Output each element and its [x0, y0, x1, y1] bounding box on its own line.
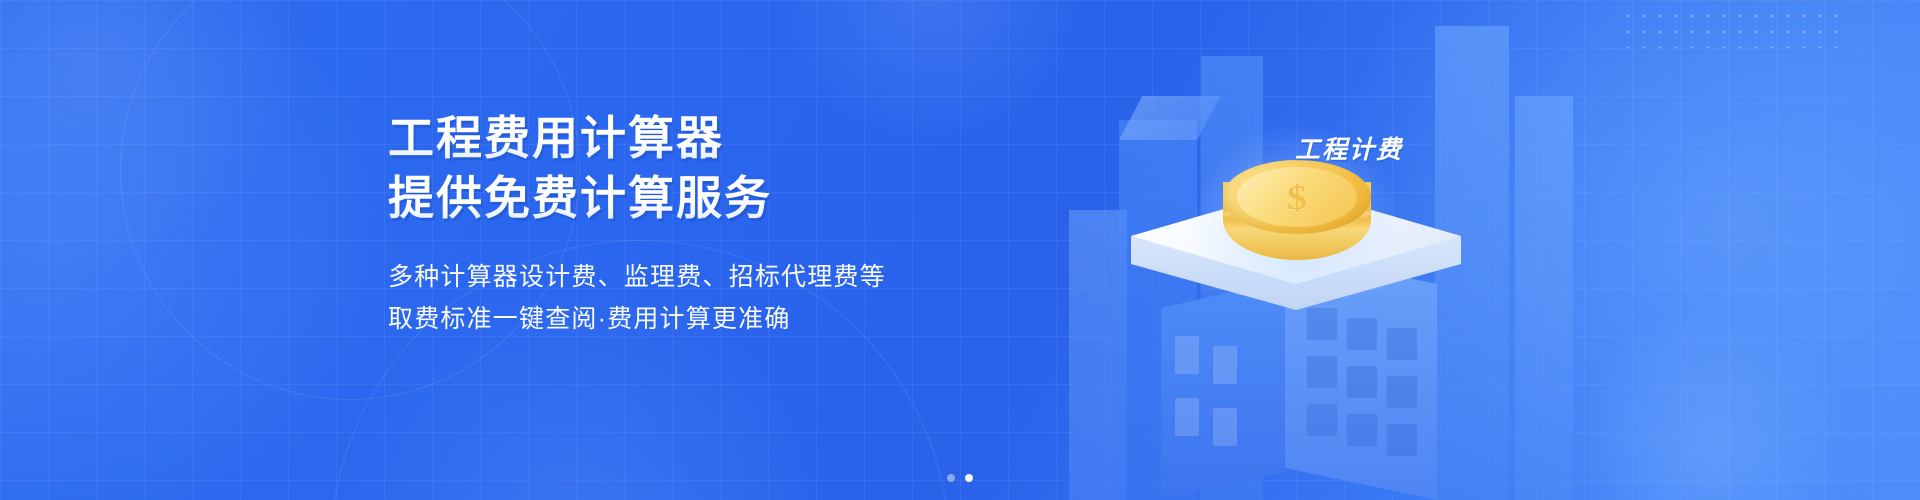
building-window: [1307, 308, 1337, 340]
banner-subtitle-line-2: 取费标准一键查阅·费用计算更准确: [388, 298, 948, 340]
banner-copy: 工程费用计算器 提供免费计算服务 多种计算器设计费、监理费、招标代理费等 取费标…: [388, 108, 948, 340]
coin-inner-ring: $: [1237, 167, 1357, 227]
banner-title-line-2: 提供免费计算服务: [388, 168, 948, 228]
building-window: [1307, 356, 1337, 388]
building-window: [1387, 424, 1417, 456]
dot-grid-decoration: [1620, 8, 1850, 48]
illustration-badge-label: 工程计费: [1295, 130, 1403, 166]
building-window: [1347, 414, 1377, 446]
carousel-indicator[interactable]: [947, 474, 973, 482]
building-window: [1387, 376, 1417, 408]
building-window: [1175, 398, 1199, 436]
building-window: [1387, 328, 1417, 360]
carousel-dot-1[interactable]: [947, 474, 955, 482]
gold-coin-icon: $: [1223, 160, 1371, 276]
skyline-bar-d: [1515, 96, 1573, 500]
banner-illustration: $ 工程计费: [1105, 0, 1605, 500]
building-window: [1307, 404, 1337, 436]
promo-banner: 工程费用计算器 提供免费计算服务 多种计算器设计费、监理费、招标代理费等 取费标…: [0, 0, 1920, 500]
banner-title-line-1: 工程费用计算器: [388, 108, 948, 168]
building-window: [1347, 366, 1377, 398]
building-window: [1175, 336, 1199, 374]
building-window: [1347, 318, 1377, 350]
carousel-dot-2[interactable]: [965, 474, 973, 482]
building-window: [1213, 408, 1237, 446]
coin-top-face: $: [1223, 160, 1371, 234]
banner-subtitle-line-1: 多种计算器设计费、监理费、招标代理费等: [388, 256, 948, 298]
banner-subtitle: 多种计算器设计费、监理费、招标代理费等 取费标准一键查阅·费用计算更准确: [388, 256, 948, 340]
dollar-sign-icon: $: [1237, 171, 1357, 224]
building-window: [1213, 346, 1237, 384]
building-left-face: [1161, 280, 1285, 500]
